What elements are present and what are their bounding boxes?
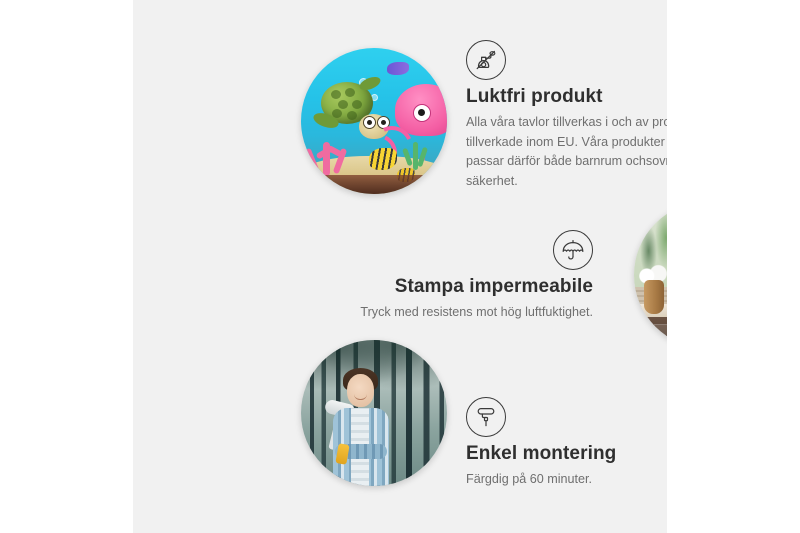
feature-odour-free: Luktfri produkt Alla våra tavlor tillver… (466, 40, 667, 191)
feature-odour-title: Luktfri produkt (466, 86, 667, 108)
photo-aquatic-mural[interactable] (301, 48, 447, 194)
sea-foreground-rock (301, 175, 447, 194)
feature-waterproof-title: Stampa impermeabile (293, 276, 593, 298)
feature-waterproof-icon-wrap (293, 230, 593, 270)
photo-aquatic-content (301, 48, 447, 194)
feature-waterproof: Stampa impermeabile Tryck med resistens … (293, 230, 593, 323)
photo-painter-forest[interactable] (301, 340, 447, 486)
photo-bathroom-wallpaper[interactable] (634, 202, 667, 348)
octopus-eye (413, 104, 431, 122)
feature-mounting-description: Färgdig på 60 minuter. (466, 470, 667, 490)
fish-purple (387, 62, 409, 75)
umbrella-icon (553, 230, 593, 270)
painter-face (347, 374, 374, 407)
feature-waterproof-description: Tryck med resistens mot hög luftfuktighe… (293, 303, 593, 323)
coral-pink (307, 136, 353, 176)
content-panel: Luktfri produkt Alla våra tavlor tillver… (133, 0, 667, 533)
feature-mounting-title: Enkel montering (466, 443, 667, 465)
page-root: Luktfri produkt Alla våra tavlor tillver… (0, 0, 800, 533)
flower-vase (644, 280, 664, 314)
no-spray-bottle-icon (466, 40, 506, 80)
fish-yellow (369, 148, 397, 170)
paint-roller-icon (466, 397, 506, 437)
photo-bathroom-content (634, 202, 667, 348)
feature-odour-description: Alla våra tavlor tillverkas i och av pro… (466, 113, 667, 191)
coral-green (405, 140, 427, 170)
bathroom-vanity (646, 317, 667, 348)
photo-painter-content (301, 340, 447, 486)
feature-mounting-icon-wrap (466, 397, 667, 437)
feature-easy-mounting: Enkel montering Färgdig på 60 minuter. (466, 397, 667, 490)
feature-odour-icon-wrap (466, 40, 667, 80)
vanity-drawer (654, 324, 667, 335)
turtle-eye (363, 116, 376, 129)
